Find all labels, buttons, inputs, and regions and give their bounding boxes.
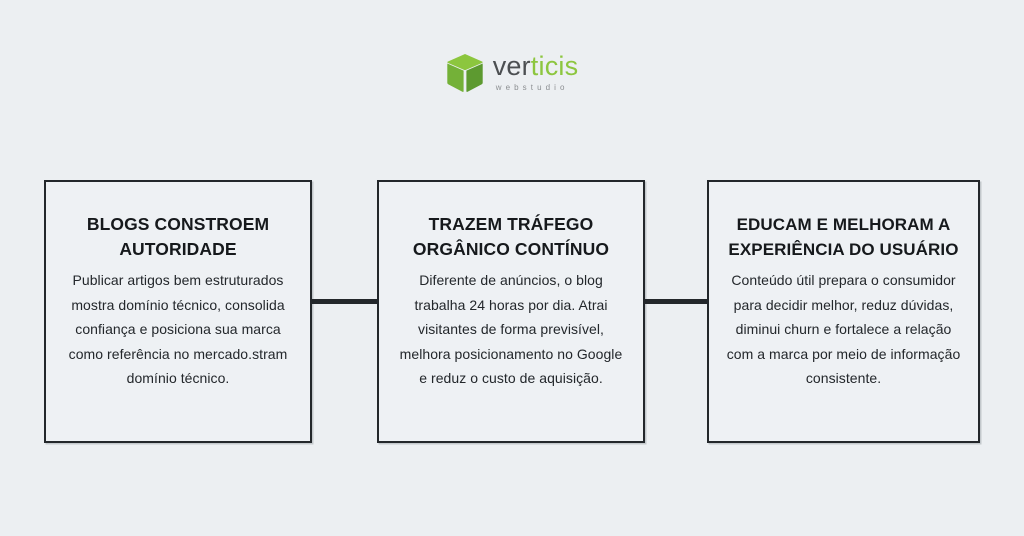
flow-box-1-body: Publicar artigos bem estruturados mostra… [62, 268, 294, 391]
flow-box-3-body: Conteúdo útil prepara o consumidor para … [725, 268, 962, 391]
connector-box1-box2 [310, 299, 379, 304]
flow-box-2-title: TRAZEM TRÁFEGO ORGÂNICO CONTÍNUO [395, 212, 627, 262]
flow-box-3: EDUCAM E MELHORAM A EXPERIÊNCIA DO USUÁR… [707, 180, 980, 443]
logo-text-block: verticis webstudio [493, 50, 579, 93]
verticis-logo[interactable]: verticis webstudio [446, 50, 579, 93]
flow-box-3-title: EDUCAM E MELHORAM A EXPERIÊNCIA DO USUÁR… [725, 212, 962, 262]
logo-header: verticis webstudio [0, 50, 1024, 106]
connector-box2-box3 [643, 299, 709, 304]
logo-wordmark: verticis [493, 52, 579, 81]
flow-box-2-body: Diferente de anúncios, o blog trabalha 2… [395, 268, 627, 391]
flow-box-1: BLOGS CONSTROEM AUTORIDADE Publicar arti… [44, 180, 312, 443]
green-cube-icon [446, 53, 484, 93]
flow-box-2: TRAZEM TRÁFEGO ORGÂNICO CONTÍNUO Diferen… [377, 180, 645, 443]
flow-box-1-title: BLOGS CONSTROEM AUTORIDADE [62, 212, 294, 262]
logo-subtitle: webstudio [496, 82, 569, 93]
logo-wordmark-ticis: ticis [531, 51, 579, 81]
logo-wordmark-ver: ver [493, 51, 531, 81]
